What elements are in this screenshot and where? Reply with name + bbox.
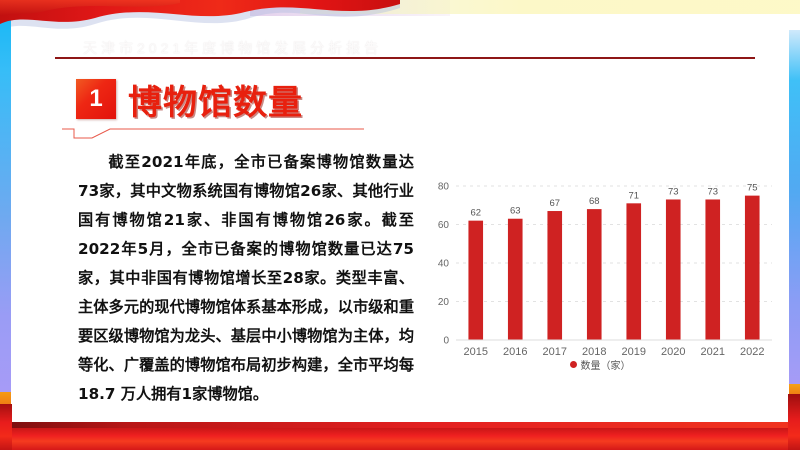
right-gradient-strip bbox=[789, 30, 800, 390]
y-tick-label: 80 bbox=[438, 182, 450, 193]
right-red-strip bbox=[788, 394, 800, 450]
bar-value-label: 75 bbox=[747, 183, 758, 194]
bar-value-label: 71 bbox=[628, 190, 639, 201]
legend-marker-icon bbox=[570, 361, 577, 368]
chart-gridlines bbox=[456, 186, 772, 340]
chart-legend: 数量（家） bbox=[424, 357, 776, 372]
bar bbox=[745, 196, 760, 340]
left-gradient-strip bbox=[0, 0, 11, 396]
bar bbox=[468, 221, 483, 340]
bar-value-label: 68 bbox=[589, 196, 600, 207]
slide-canvas: 天津市2021年度博物馆发展分析报告 1 博物馆数量 截至2021年底，全市已备… bbox=[0, 0, 800, 450]
y-tick-label: 40 bbox=[438, 259, 450, 270]
chart-y-axis-ticks: 020406080 bbox=[438, 182, 450, 347]
bar-value-label: 67 bbox=[549, 198, 560, 209]
bottom-inner-line bbox=[12, 422, 788, 428]
chart-bars bbox=[468, 196, 759, 340]
museum-count-bar-chart: 020406080 6263676871737375 2015201620172… bbox=[424, 172, 776, 372]
bar bbox=[626, 203, 641, 340]
bottom-red-bar bbox=[0, 428, 800, 450]
bar-value-label: 73 bbox=[668, 186, 679, 197]
y-tick-label: 20 bbox=[438, 297, 450, 308]
bar-value-label: 62 bbox=[470, 208, 481, 219]
body-paragraph: 截至2021年底，全市已备案博物馆数量达73家，其中文物系统国有博物馆26家、其… bbox=[78, 148, 414, 409]
bar bbox=[705, 199, 720, 340]
section-underline-decoration bbox=[62, 127, 364, 141]
legend-label: 数量（家） bbox=[581, 361, 631, 372]
bar-value-label: 73 bbox=[707, 186, 718, 197]
bar bbox=[547, 211, 562, 340]
red-ribbon-decoration bbox=[0, 0, 400, 38]
bar bbox=[666, 199, 681, 340]
section-number-label: 1 bbox=[89, 87, 102, 111]
bar bbox=[508, 219, 523, 340]
bar-value-label: 63 bbox=[510, 206, 521, 217]
y-tick-label: 60 bbox=[438, 220, 450, 231]
bar bbox=[587, 209, 602, 340]
slide-header-title: 天津市2021年度博物馆发展分析报告 bbox=[83, 38, 382, 58]
section-title: 博物馆数量 bbox=[128, 75, 303, 124]
left-red-strip bbox=[0, 404, 12, 450]
section-number-badge: 1 bbox=[76, 79, 116, 119]
header-divider bbox=[55, 57, 755, 59]
y-tick-label: 0 bbox=[443, 336, 449, 347]
